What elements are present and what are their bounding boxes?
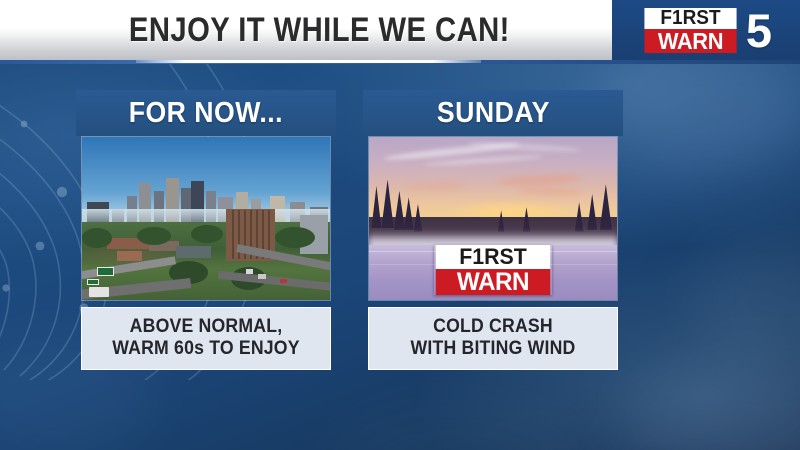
panel-header-sunday: SUNDAY [363,90,623,136]
watermark-warn-text: WARN [436,269,550,295]
caption-sunday: COLD CRASH WITH BITING WIND [368,307,618,370]
photo-city-skyline [81,136,331,301]
headline-banner: ENJOY IT WHILE WE CAN! [0,0,612,60]
caption-line-1: ABOVE NORMAL, [94,316,317,338]
panel-header-label: SUNDAY [437,97,550,130]
logo-channel-number: 5 [746,7,770,54]
logo-warn-text: WARN [644,29,736,53]
photo-winter-sunset: F1RST WARN [368,136,618,301]
panel-for-now: FOR NOW... [76,90,336,370]
caption-line-1: COLD CRASH [381,316,604,338]
panel-header-for-now: FOR NOW... [76,90,336,136]
first-warn-logo-mark: F1RST WARN [642,8,739,53]
first-warn-watermark: F1RST WARN [434,245,552,295]
headline-text: ENJOY IT WHILE WE CAN! [103,11,510,50]
watermark-first-text: F1RST [436,245,550,269]
panel-header-label: FOR NOW... [129,97,283,130]
banner-underline [136,60,481,63]
caption-line-2: WARM 60s TO ENJOY [94,338,317,360]
station-logo: F1RST WARN 5 [612,0,800,60]
logo-first-text: F1RST [644,8,736,29]
panel-sunday: SUNDAY [363,90,623,370]
caption-line-2: WITH BITING WIND [381,338,604,360]
weather-graphic-stage: ENJOY IT WHILE WE CAN! F1RST WARN 5 FOR … [0,0,800,450]
caption-for-now: ABOVE NORMAL, WARM 60s TO ENJOY [81,307,331,370]
